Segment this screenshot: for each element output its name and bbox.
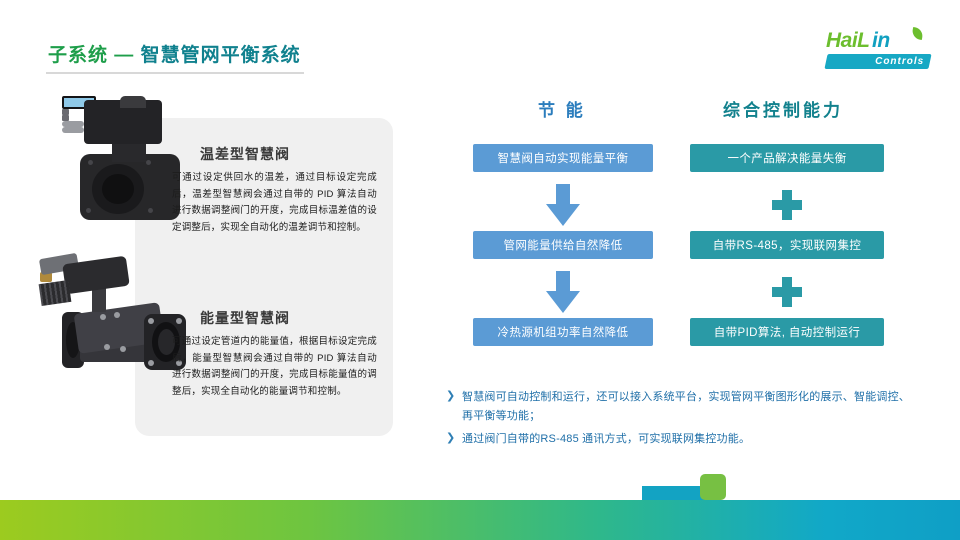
- valve-bolt: [88, 160, 93, 165]
- list-item: ❯ 智慧阀可自动控制和运行，还可以接入系统平台，实现管网平衡图形化的展示、智能调…: [446, 388, 916, 426]
- title-underline: [46, 72, 304, 74]
- page-title: 子系统 — 智慧管网平衡系统: [48, 40, 301, 67]
- bullet-list: ❯ 智慧阀可自动控制和运行，还可以接入系统平台，实现管网平衡图形化的展示、智能调…: [446, 388, 916, 453]
- column-heading-energy-saving: 节 能: [538, 96, 586, 121]
- leaf-icon: [911, 27, 924, 40]
- card-body-temperature-valve: 可通过设定供回水的温差，通过目标设定完成后，温差型智慧阀会通过自带的 PID 算…: [172, 170, 377, 237]
- bullet-text-1: 智慧阀可自动控制和运行，还可以接入系统平台，实现管网平衡图形化的展示、智能调控、…: [462, 388, 916, 426]
- chevron-right-icon: ❯: [446, 430, 462, 447]
- arrow-down-icon: [546, 184, 580, 226]
- valve-bolt: [146, 160, 151, 165]
- valve-bolt: [114, 312, 120, 318]
- decoration-green-square: [700, 474, 726, 500]
- flow-box-control-2: 自带RS-485，实现联网集控: [690, 231, 884, 259]
- list-item: ❯ 通过阀门自带的RS-485 通讯方式，可实现联网集控功能。: [446, 430, 916, 449]
- flow-box-energy-3: 冷热源机组功率自然降低: [473, 318, 653, 346]
- valve-bolt: [100, 314, 106, 320]
- valve-conduit: [62, 127, 84, 133]
- card-body-energy-valve: 可通过设定管道内的能量值，根据目标设定完成后，能量型智慧阀会通过自带的 PID …: [172, 334, 377, 401]
- hailin-logo: HaiL in Controls: [820, 28, 938, 72]
- flow-box-control-3: 自带PID算法, 自动控制运行: [690, 318, 884, 346]
- chevron-right-icon: ❯: [446, 388, 462, 405]
- logo-word-lin: in: [872, 30, 890, 51]
- plus-icon: [772, 277, 802, 307]
- valve-bolt: [86, 208, 91, 213]
- plus-icon: [772, 190, 802, 220]
- logo-tagline-bar: Controls: [824, 54, 931, 69]
- valve-bolt: [148, 360, 154, 366]
- bottom-gradient-bar: [0, 500, 960, 540]
- card-title-energy-valve: 能量型智慧阀: [200, 308, 290, 328]
- logo-tagline: Controls: [826, 54, 930, 67]
- valve-bore: [102, 174, 134, 204]
- card-title-temperature-valve: 温差型智慧阀: [200, 144, 290, 164]
- bullet-text-2: 通过阀门自带的RS-485 通讯方式，可实现联网集控功能。: [462, 430, 750, 449]
- column-heading-control-ability: 综合控制能力: [723, 96, 843, 121]
- flow-box-energy-2: 管网能量供给自然降低: [473, 231, 653, 259]
- page-title-main: 智慧管网平衡系统: [141, 45, 301, 66]
- logo-word-hai: HaiL: [826, 30, 870, 51]
- flow-box-control-1: 一个产品解决能量失衡: [690, 144, 884, 172]
- arrow-down-icon: [546, 271, 580, 313]
- valve-bolt: [148, 208, 153, 213]
- valve-bolt: [104, 344, 110, 350]
- valve-actuator-fins: [39, 280, 72, 306]
- valve-bolt: [148, 318, 154, 324]
- valve-actuator-top: [120, 96, 146, 108]
- valve-bolt: [120, 346, 126, 352]
- valve-bolt: [176, 318, 182, 324]
- page-title-prefix: 子系统 —: [48, 45, 141, 66]
- flow-box-energy-1: 智慧阀自动实现能量平衡: [473, 144, 653, 172]
